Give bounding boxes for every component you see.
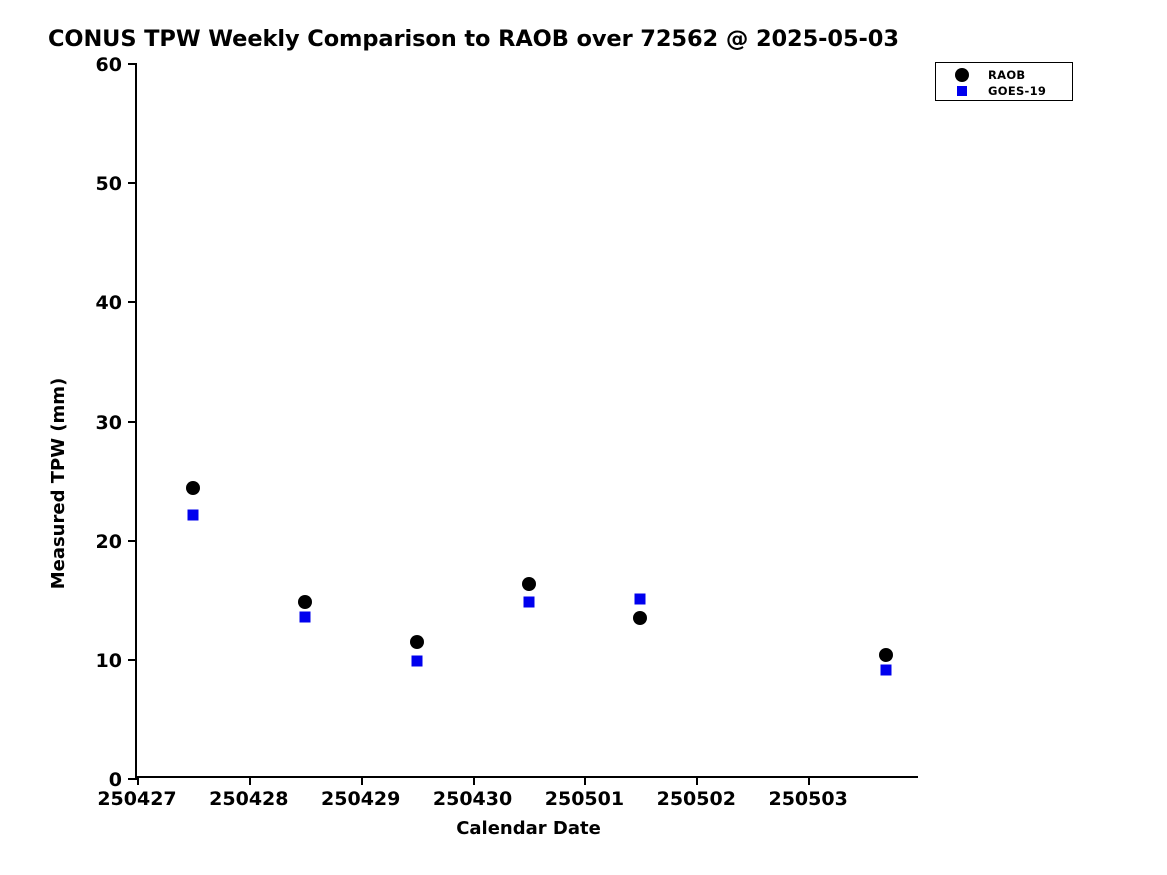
- x-axis-tick-label: 250502: [657, 788, 736, 810]
- data-point-goes19: [299, 612, 310, 623]
- data-point-raob: [633, 611, 647, 625]
- x-axis-tick: [249, 776, 251, 785]
- legend-label-goes19: GOES-19: [988, 84, 1046, 98]
- y-axis-tick: 40: [128, 301, 137, 303]
- y-axis-tick: 50: [128, 182, 137, 184]
- x-axis-tick: [361, 776, 363, 785]
- legend-label-raob: RAOB: [988, 68, 1026, 82]
- data-point-raob: [879, 648, 893, 662]
- y-axis-tick: 10: [128, 659, 137, 661]
- legend-marker-box-goes19: [936, 86, 988, 96]
- circle-marker-icon: [955, 68, 969, 82]
- data-point-raob: [410, 635, 424, 649]
- square-marker-icon: [957, 86, 967, 96]
- x-axis-tick-label: 250503: [768, 788, 847, 810]
- data-point-raob: [298, 595, 312, 609]
- x-axis-tick-label: 250427: [97, 788, 176, 810]
- x-axis-tick: [137, 776, 139, 785]
- x-axis-tick: [584, 776, 586, 785]
- y-axis-tick-label: 30: [96, 412, 122, 434]
- x-axis-tick-label: 250429: [321, 788, 400, 810]
- data-point-goes19: [635, 594, 646, 605]
- x-axis-tick-label: 250430: [433, 788, 512, 810]
- data-points-layer: [137, 63, 918, 776]
- data-point-goes19: [411, 656, 422, 667]
- y-axis-tick: 60: [128, 63, 137, 65]
- chart-figure: CONUS TPW Weekly Comparison to RAOB over…: [0, 0, 1167, 875]
- y-axis-tick: 30: [128, 421, 137, 423]
- x-axis-tick: [696, 776, 698, 785]
- data-point-goes19: [523, 596, 534, 607]
- y-axis-tick: 20: [128, 540, 137, 542]
- x-axis-title: Calendar Date: [137, 818, 920, 839]
- data-point-raob: [522, 577, 536, 591]
- chart-title: CONUS TPW Weekly Comparison to RAOB over…: [48, 26, 899, 52]
- x-axis-tick: [473, 776, 475, 785]
- data-point-raob: [186, 481, 200, 495]
- y-axis-tick-label: 40: [96, 292, 122, 314]
- y-axis-title: Measured TPW (mm): [48, 126, 76, 841]
- data-point-goes19: [881, 664, 892, 675]
- legend-item-raob: RAOB: [936, 66, 1072, 83]
- y-axis-tick: 0: [128, 778, 137, 780]
- x-axis-tick-label: 250428: [209, 788, 288, 810]
- x-axis-tick: [808, 776, 810, 785]
- plot-area: Measured TPW (mm) Calendar Date 01020304…: [135, 63, 918, 778]
- x-axis-tick-label: 250501: [545, 788, 624, 810]
- legend-item-goes19: GOES-19: [936, 82, 1072, 99]
- y-axis-tick-label: 60: [96, 54, 122, 76]
- y-axis-tick-label: 10: [96, 650, 122, 672]
- y-axis-tick-label: 20: [96, 531, 122, 553]
- y-axis-tick-label: 50: [96, 173, 122, 195]
- legend-marker-box-raob: [936, 68, 988, 82]
- chart-legend: RAOB GOES-19: [935, 62, 1073, 101]
- data-point-goes19: [187, 509, 198, 520]
